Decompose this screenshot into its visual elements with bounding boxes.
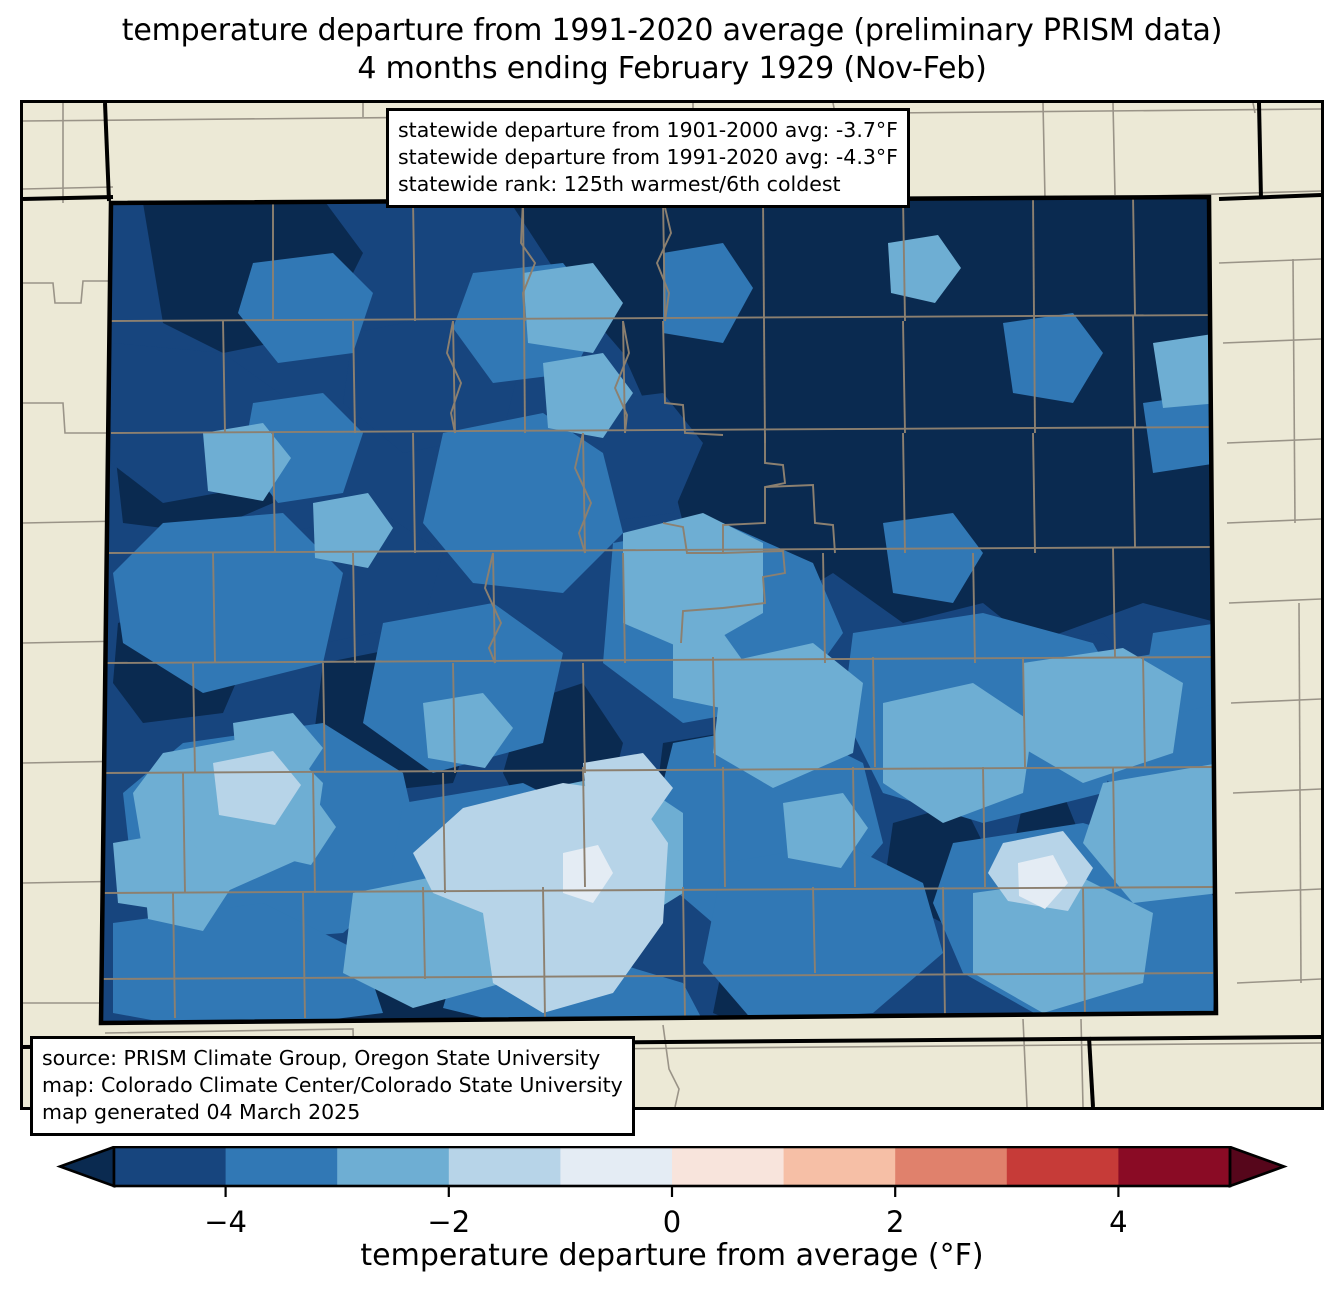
source-line-2: map: Colorado Climate Center/Colorado St… xyxy=(42,1072,623,1099)
stats-line-3: statewide rank: 125th warmest/6th coldes… xyxy=(398,171,898,198)
colorbar-band-8 xyxy=(1007,1147,1119,1186)
colorbar-axis-label: temperature departure from average (°F) xyxy=(0,1238,1344,1273)
colorbar-band-5 xyxy=(672,1147,784,1186)
colorbar-tick-label: −2 xyxy=(427,1205,470,1239)
stats-line-1: statewide departure from 1901-2000 avg: … xyxy=(398,117,898,144)
title-line-2: 4 months ending February 1929 (Nov-Feb) xyxy=(0,50,1344,88)
colorbar-tick-label: −4 xyxy=(204,1205,247,1239)
colorbar-band-0 xyxy=(114,1147,226,1186)
colorbar-svg: −4−2024 xyxy=(0,1146,1344,1299)
colorbar-tick-label: 4 xyxy=(1109,1205,1127,1239)
stats-line-2: statewide departure from 1991-2020 avg: … xyxy=(398,144,898,171)
map-panel xyxy=(20,100,1324,1110)
colorbar-extend-max xyxy=(1230,1147,1284,1186)
colorbar-tick-label: 2 xyxy=(886,1205,904,1239)
source-annotation-box: source: PRISM Climate Group, Oregon Stat… xyxy=(30,1036,635,1136)
colorbar: −4−2024 xyxy=(0,1146,1344,1299)
statistics-annotation-box: statewide departure from 1901-2000 avg: … xyxy=(386,108,910,208)
page-title: temperature departure from 1991-2020 ave… xyxy=(0,12,1344,88)
colorbar-extend-min xyxy=(60,1147,114,1186)
source-line-1: source: PRISM Climate Group, Oregon Stat… xyxy=(42,1045,623,1072)
colorbar-band-1 xyxy=(226,1147,338,1186)
colorbar-band-2 xyxy=(337,1147,449,1186)
colorbar-band-3 xyxy=(449,1147,561,1186)
colorbar-band-9 xyxy=(1118,1147,1230,1186)
colorado-temperature-map xyxy=(23,103,1321,1107)
colorbar-band-7 xyxy=(895,1147,1007,1186)
colorbar-bands xyxy=(60,1147,1284,1186)
colorbar-tick-label: 0 xyxy=(663,1205,681,1239)
title-line-1: temperature departure from 1991-2020 ave… xyxy=(0,12,1344,50)
colorbar-band-4 xyxy=(560,1147,672,1186)
colorbar-ticks: −4−2024 xyxy=(204,1186,1127,1239)
colorbar-band-6 xyxy=(784,1147,896,1186)
source-line-3: map generated 04 March 2025 xyxy=(42,1099,623,1126)
